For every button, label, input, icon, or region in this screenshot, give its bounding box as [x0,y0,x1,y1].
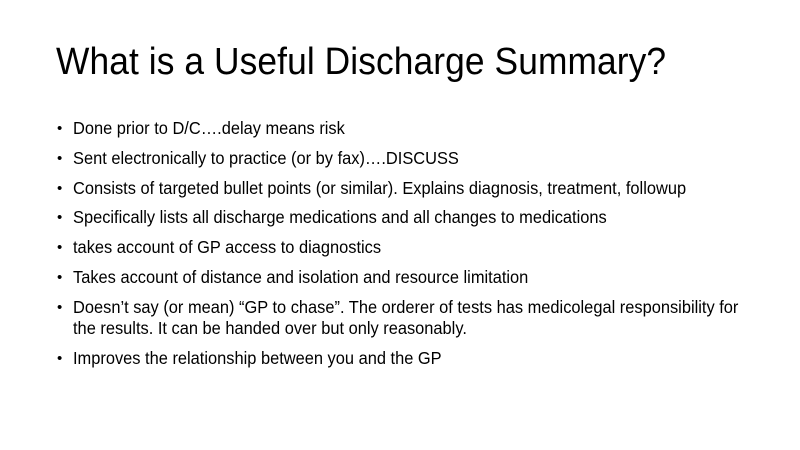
list-item: • Consists of targeted bullet points (or… [56,178,756,199]
list-item: • takes account of GP access to diagnost… [56,237,756,258]
bullet-list: • Done prior to D/C….delay means risk • … [56,118,756,369]
bullet-point-icon: • [57,178,69,199]
slide-canvas: What is a Useful Discharge Summary? • Do… [0,0,800,450]
bullet-point-icon: • [57,118,69,139]
bullet-point-icon: • [57,267,69,288]
list-item: • Improves the relationship between you … [56,348,756,369]
bullet-point-icon: • [57,207,69,228]
list-item-label: Takes account of distance and isolation … [73,267,756,288]
list-item-label: Doesn’t say (or mean) “GP to chase”. The… [73,297,756,340]
bullet-point-icon: • [57,148,69,169]
list-item: • Takes account of distance and isolatio… [56,267,756,288]
page-title: What is a Useful Discharge Summary? [56,42,666,83]
bullet-point-icon: • [57,297,69,318]
list-item: • Doesn’t say (or mean) “GP to chase”. T… [56,297,756,340]
bullet-point-icon: • [57,237,69,258]
list-item-label: Sent electronically to practice (or by f… [73,148,756,169]
title-placeholder: What is a Useful Discharge Summary? [56,34,756,92]
list-item-label: Consists of targeted bullet points (or s… [73,178,756,199]
list-item-label: Improves the relationship between you an… [73,348,756,369]
bullet-point-icon: • [57,348,69,369]
list-item: • Done prior to D/C….delay means risk [56,118,756,139]
list-item: • Sent electronically to practice (or by… [56,148,756,169]
body-placeholder: • Done prior to D/C….delay means risk • … [56,118,756,369]
list-item-label: takes account of GP access to diagnostic… [73,237,756,258]
list-item: • Specifically lists all discharge medic… [56,207,756,228]
list-item-label: Specifically lists all discharge medicat… [73,207,756,228]
list-item-label: Done prior to D/C….delay means risk [73,118,756,139]
